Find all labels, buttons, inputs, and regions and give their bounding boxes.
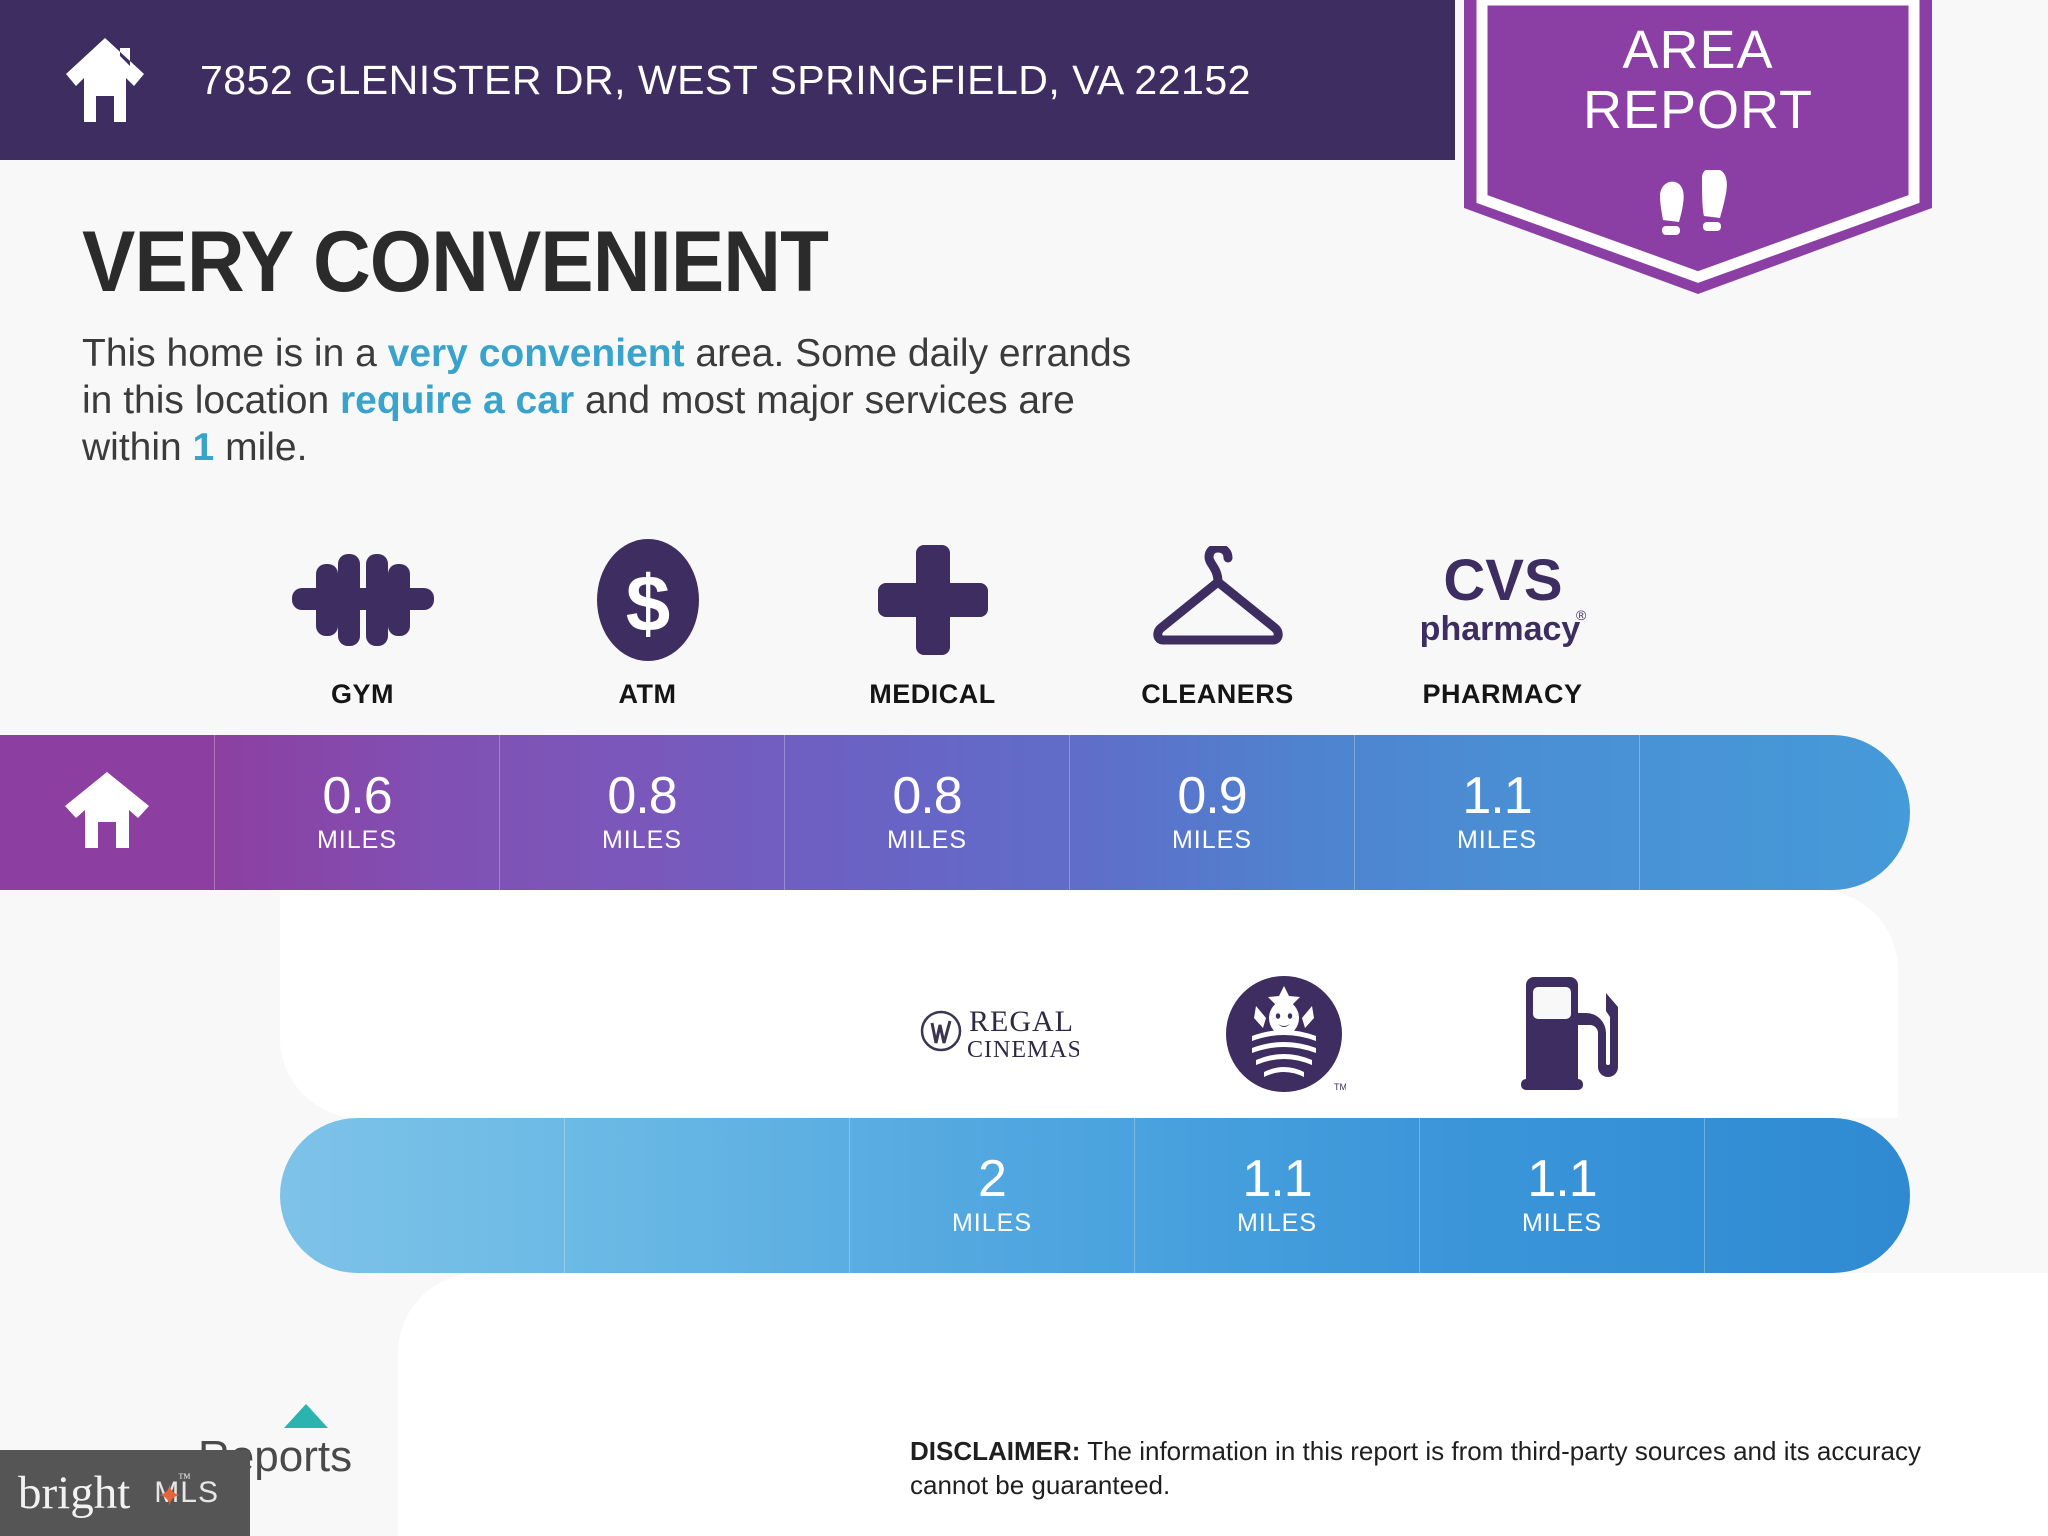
area-report-badge: AREA REPORT (1464, 0, 1932, 294)
home-marker (0, 735, 215, 890)
distance-medical: 0.8 MILES (785, 735, 1070, 890)
distance-unit: MILES (1522, 1209, 1602, 1238)
regal-cinemas-logo: REGAL CINEMAS (919, 969, 1079, 1099)
bright-word-text: bright (18, 1467, 130, 1519)
distance-unit: MILES (1237, 1209, 1317, 1238)
pharmacy-wordmark: pharmacy (1419, 610, 1580, 648)
bright-star-icon: ✦ (157, 1482, 182, 1512)
hero-section: VERY CONVENIENT This home is in a very c… (82, 216, 1202, 471)
hero-description: This home is in a very convenient area. … (82, 330, 1172, 471)
distance-pharmacy: 1.1 MILES (1355, 735, 1640, 890)
desc-text-1: This home is in a (82, 332, 388, 375)
amenity-atm: $ ATM (505, 520, 790, 710)
distance-movie-theater: 2 MILES (850, 1118, 1135, 1273)
cinemas-wordmark: CINEMAS (967, 1037, 1079, 1063)
distance-coffee: 1.1 MILES (1135, 1118, 1420, 1273)
amenity-label: ATM (619, 679, 677, 710)
distance-value: 2 (978, 1153, 1006, 1205)
desc-highlight-3: 1 (193, 426, 215, 469)
bar-spacer-cell (280, 1118, 565, 1273)
distance-value: 0.9 (1177, 770, 1246, 822)
distance-cleaners: 0.9 MILES (1070, 735, 1355, 890)
distance-value: 0.8 (892, 770, 961, 822)
amenity-medical: MEDICAL (790, 520, 1075, 710)
bright-mls-logo: bright ✦ ™ MLS (0, 1450, 250, 1536)
desc-highlight-2: require a car (340, 379, 574, 422)
house-icon (62, 34, 148, 126)
distance-unit: MILES (887, 826, 967, 855)
disclaimer-text: DISCLAIMER: The information in this repo… (910, 1434, 1970, 1502)
cvs-pharmacy-logo: CVS pharmacy ® (1418, 535, 1588, 665)
registered-mark: ® (1576, 607, 1587, 623)
starbucks-logo: TM (1222, 969, 1346, 1099)
desc-highlight-1: very convenient (388, 332, 685, 375)
distance-bar-primary: 0.6 MILES 0.8 MILES 0.8 MILES 0.9 MILES … (0, 735, 1910, 890)
amenity-label: GYM (331, 679, 394, 710)
property-address: 7852 GLENISTER DR, WEST SPRINGFIELD, VA … (200, 57, 1251, 104)
clothes-hanger-icon (1151, 535, 1285, 665)
svg-text:$: $ (625, 559, 670, 648)
distance-value: 0.6 (322, 770, 391, 822)
footprints-icon (1650, 170, 1746, 248)
amenity-label: PHARMACY (1422, 679, 1582, 710)
dumbbell-icon (292, 535, 434, 665)
distance-unit: MILES (602, 826, 682, 855)
amenity-label: CLEANERS (1141, 679, 1294, 710)
distance-bar-secondary: 2 MILES 1.1 MILES 1.1 MILES (280, 1118, 1910, 1273)
disclaimer-label: DISCLAIMER: (910, 1436, 1080, 1466)
distance-value: 1.1 (1462, 770, 1531, 822)
distance-unit: MILES (317, 826, 397, 855)
distance-unit: MILES (1172, 826, 1252, 855)
distance-value: 1.1 (1242, 1153, 1311, 1205)
dollar-circle-icon: $ (597, 535, 699, 665)
distance-atm: 0.8 MILES (500, 735, 785, 890)
cvs-wordmark: CVS (1443, 548, 1562, 613)
regal-wordmark: REGAL (969, 1005, 1074, 1038)
page-title: VERY CONVENIENT (82, 216, 1124, 308)
header-bar: 7852 GLENISTER DR, WEST SPRINGFIELD, VA … (0, 0, 1455, 160)
amenity-label: MEDICAL (869, 679, 996, 710)
amenity-pharmacy: CVS pharmacy ® PHARMACY (1360, 520, 1645, 710)
distance-value: 0.8 (607, 770, 676, 822)
amenity-icon-row-primary: GYM $ ATM MEDICAL (220, 520, 1620, 710)
distance-value: 1.1 (1527, 1153, 1596, 1205)
starbucks-tm-mark: TM (1334, 1082, 1346, 1092)
amenity-gym: GYM (220, 520, 505, 710)
bar-spacer-cell (565, 1118, 850, 1273)
distance-gym: 0.6 MILES (215, 735, 500, 890)
distance-unit: MILES (1457, 826, 1537, 855)
amenity-cleaners: CLEANERS (1075, 520, 1360, 710)
house-icon (63, 770, 151, 855)
distance-unit: MILES (952, 1209, 1032, 1238)
gas-pump-icon (1516, 969, 1622, 1099)
distance-gas: 1.1 MILES (1420, 1118, 1705, 1273)
desc-text-4: mile. (214, 426, 307, 469)
bright-wordmark: bright ✦ ™ (18, 1466, 130, 1520)
bright-tm-mark: ™ (178, 1470, 191, 1486)
medical-cross-icon (878, 535, 988, 665)
